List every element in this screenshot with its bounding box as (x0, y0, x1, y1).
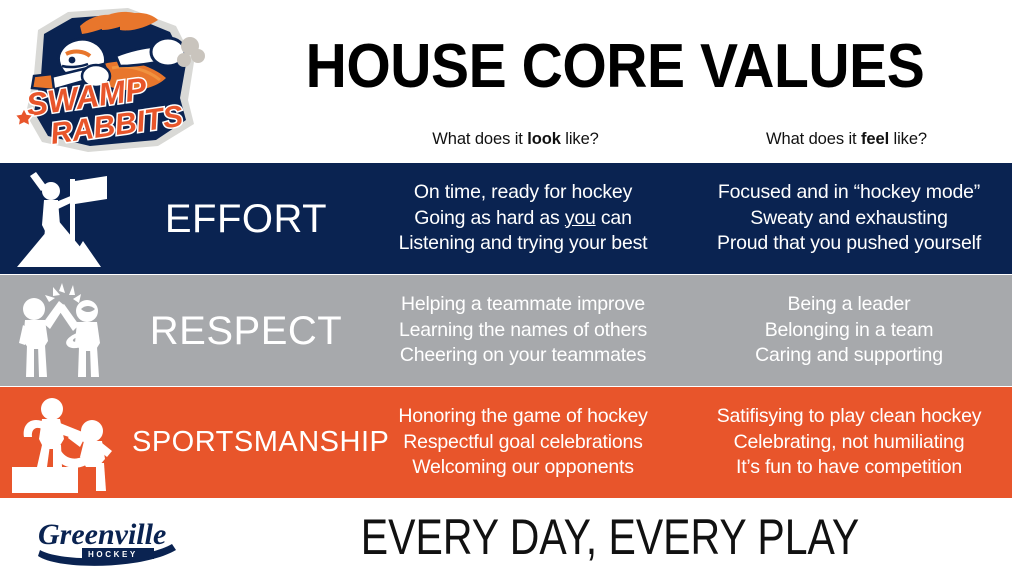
sportsmanship-look-line-1: Honoring the game of hockey (364, 404, 682, 430)
value-label-sportsmanship: SPORTSMANSHIP (132, 428, 360, 457)
respect-look-column: Helping a teammate improve Learning the … (360, 292, 686, 370)
sportsmanship-look-column: Honoring the game of hockey Respectful g… (360, 404, 686, 482)
effort-feel-line-1: Focused and in “hockey mode” (690, 180, 1008, 206)
sportsmanship-look-line-2: Respectful goal celebrations (364, 430, 682, 456)
two-people-high-five-icon (0, 275, 132, 386)
person-flag-mountain-icon (0, 163, 132, 274)
effort-feel-line-2: Sweaty and exhausting (690, 206, 1008, 232)
value-columns-sportsmanship: Honoring the game of hockey Respectful g… (360, 404, 1012, 482)
col-look-bold: look (527, 130, 561, 148)
effort-feel-line-3: Proud that you pushed yourself (690, 231, 1008, 257)
effort-look-column: On time, ready for hockey Going as hard … (360, 180, 686, 258)
effort-look-line-2-underline: you (565, 207, 596, 229)
respect-look-line-3: Cheering on your teammates (364, 343, 682, 369)
value-label-effort: EFFORT (132, 199, 360, 239)
column-heading-feel: What does it feel like? (681, 130, 1012, 149)
column-heading-look: What does it look like? (350, 130, 681, 149)
value-row-effort: EFFORT On time, ready for hockey Going a… (0, 163, 1012, 274)
col-feel-bold: feel (861, 130, 889, 148)
respect-feel-column: Being a leader Belonging in a team Carin… (686, 292, 1012, 370)
value-label-respect: RESPECT (132, 311, 360, 351)
col-look-suffix: like? (561, 130, 599, 148)
column-headings: What does it look like? What does it fee… (350, 130, 1012, 149)
sportsmanship-feel-line-2: Celebrating, not humiliating (690, 430, 1008, 456)
sportsmanship-look-line-3: Welcoming our opponents (364, 455, 682, 481)
respect-look-line-2: Learning the names of others (364, 318, 682, 344)
respect-feel-line-1: Being a leader (690, 292, 1008, 318)
header: SWAMP RABBITS HOUSE CORE VALUES What doe… (0, 0, 1024, 163)
col-feel-prefix: What does it (766, 130, 861, 148)
effort-look-line-2: Going as hard as you can (364, 206, 682, 232)
value-row-respect: RESPECT Helping a teammate improve Learn… (0, 275, 1012, 386)
effort-feel-column: Focused and in “hockey mode” Sweaty and … (686, 180, 1012, 258)
footer: Greenville HOCKEY EVERY DAY, EVERY PLAY (0, 498, 1024, 576)
page-title: HOUSE CORE VALUES (252, 36, 979, 98)
effort-look-line-1: On time, ready for hockey (364, 180, 682, 206)
greenville-hockey-logo: Greenville HOCKEY (30, 504, 180, 570)
sportsmanship-feel-line-1: Satifisying to play clean hockey (690, 404, 1008, 430)
svg-text:HOCKEY: HOCKEY (88, 550, 138, 559)
value-row-sportsmanship: SPORTSMANSHIP Honoring the game of hocke… (0, 387, 1012, 498)
podium-helping-hand-icon (0, 387, 132, 498)
effort-look-line-2-pre: Going as hard as (414, 207, 565, 229)
sportsmanship-feel-column: Satifisying to play clean hockey Celebra… (686, 404, 1012, 482)
effort-look-line-2-post: can (596, 207, 632, 229)
respect-feel-line-3: Caring and supporting (690, 343, 1008, 369)
respect-feel-line-2: Belonging in a team (690, 318, 1008, 344)
effort-look-line-3: Listening and trying your best (364, 231, 682, 257)
value-columns-effort: On time, ready for hockey Going as hard … (360, 180, 1012, 258)
respect-look-line-1: Helping a teammate improve (364, 292, 682, 318)
swamp-rabbits-logo: SWAMP RABBITS (8, 4, 210, 156)
svg-text:Greenville: Greenville (38, 518, 166, 551)
col-look-prefix: What does it (432, 130, 527, 148)
col-feel-suffix: like? (889, 130, 927, 148)
footer-tagline: EVERY DAY, EVERY PLAY (282, 510, 938, 565)
sportsmanship-feel-line-3: It’s fun to have competition (690, 455, 1008, 481)
value-columns-respect: Helping a teammate improve Learning the … (360, 292, 1012, 370)
